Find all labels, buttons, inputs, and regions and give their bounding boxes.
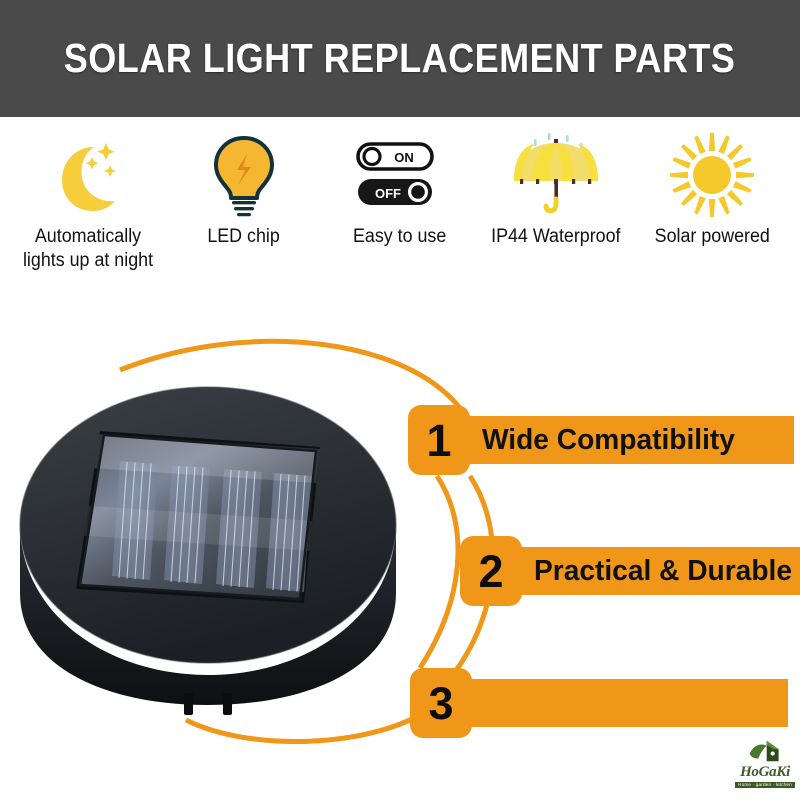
logo-wordmark: HoGaKi — [740, 765, 790, 780]
logo-tagline: Home · garden · kitchen — [735, 782, 795, 789]
feature-item-auto-night: Automatically lights up at night — [10, 125, 166, 273]
feature-item-solar-powered: Solar powered — [634, 125, 790, 249]
feature-strip: Automatically lights up at night LED chi… — [0, 125, 800, 295]
callout-number: 2 — [460, 536, 522, 606]
feature-item-led-chip: LED chip — [166, 125, 322, 249]
callout-number: 1 — [408, 405, 470, 475]
svg-text:OFF: OFF — [375, 186, 401, 201]
callout-bar: Wide Compatibility — [454, 416, 794, 464]
header-banner: SOLAR LIGHT REPLACEMENT PARTS — [0, 0, 800, 117]
leaf-house-logo-icon — [748, 738, 782, 764]
product-callout-stage: 1 Wide Compatibility 2 Practical & Durab… — [0, 300, 800, 800]
product-image-solar-light-cap — [8, 375, 408, 745]
toggle-on: ON — [358, 144, 432, 169]
toggle-off: OFF — [358, 179, 432, 205]
connector-arc-inner — [420, 476, 458, 668]
crescent-moon-stars-icon — [10, 125, 166, 225]
sun-icon — [634, 125, 790, 225]
umbrella-rain-icon — [478, 125, 634, 225]
callout-label: Practical & Durable — [534, 557, 792, 586]
infographic-page: SOLAR LIGHT REPLACEMENT PARTS Automatica… — [0, 0, 800, 800]
feature-label: LED chip — [206, 225, 282, 249]
svg-text:ON: ON — [394, 150, 414, 165]
callout-3[interactable]: 3 — [410, 668, 788, 738]
callout-bar — [456, 679, 788, 727]
callout-2[interactable]: 2 Practical & Durable — [460, 536, 800, 606]
feature-label: Easy to use — [351, 225, 448, 249]
feature-label: Solar powered — [653, 225, 772, 249]
on-off-toggle-icon: ON OFF — [322, 125, 478, 225]
feature-item-easy-to-use: ON OFF Easy to use — [322, 125, 478, 249]
feature-label: IP44 Waterproof — [489, 225, 622, 249]
callout-1[interactable]: 1 Wide Compatibility — [408, 405, 794, 475]
page-title: SOLAR LIGHT REPLACEMENT PARTS — [64, 35, 736, 82]
feature-item-waterproof: IP44 Waterproof — [478, 125, 634, 249]
product-notch-right — [223, 693, 232, 715]
callout-label: Wide Compatibility — [482, 426, 735, 455]
light-bulb-icon — [166, 125, 322, 225]
brand-logo: HoGaKi Home · garden · kitchen — [735, 738, 795, 794]
product-notch-left — [184, 693, 193, 715]
callout-bar: Practical & Durable — [506, 547, 800, 595]
feature-label: Automatically lights up at night — [15, 225, 162, 273]
callout-number: 3 — [410, 668, 472, 738]
